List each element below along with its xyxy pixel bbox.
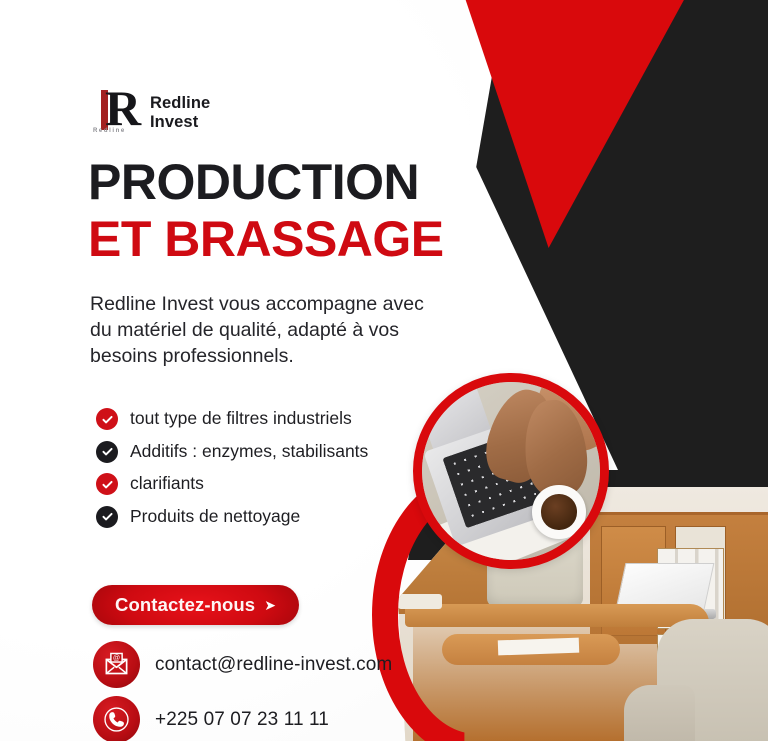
logo-subtext: Redline <box>93 128 126 134</box>
logo-letter: R <box>105 83 141 133</box>
check-icon <box>96 473 118 495</box>
list-item-label: tout type de filtres industriels <box>130 409 352 428</box>
brand-logo: R Redline Redline Invest <box>89 88 210 138</box>
flyer-canvas: R Redline Redline Invest PRODUCTION ET B… <box>0 0 768 741</box>
list-item-label: Produits de nettoyage <box>130 507 300 526</box>
list-item: tout type de filtres industriels <box>96 408 436 430</box>
arrow-right-icon: ➤ <box>264 598 276 612</box>
list-item: Produits de nettoyage <box>96 506 436 528</box>
description-paragraph: Redline Invest vous accompagne avec du m… <box>90 291 435 369</box>
feature-list: tout type de filtres industriels Additif… <box>96 408 436 538</box>
list-item-label: Additifs : enzymes, stabilisants <box>130 442 368 461</box>
content-column: R Redline Redline Invest PRODUCTION ET B… <box>0 0 470 741</box>
logo-mark-icon: R Redline <box>89 88 141 138</box>
svg-text:@: @ <box>113 653 120 662</box>
contact-phone-row[interactable]: +225 07 07 23 11 11 <box>93 696 329 741</box>
contact-us-label: Contactez-nous <box>115 594 255 616</box>
check-icon <box>96 506 118 528</box>
list-item: clarifiants <box>96 473 436 495</box>
list-item-label: clarifiants <box>130 474 204 493</box>
email-address: contact@redline-invest.com <box>155 654 392 676</box>
headline-secondary: ET BRASSAGE <box>88 214 444 264</box>
phone-icon <box>93 696 140 741</box>
check-icon <box>96 441 118 463</box>
brand-name: Redline Invest <box>150 94 210 133</box>
contact-email-row[interactable]: @ contact@redline-invest.com <box>93 641 392 688</box>
brand-name-line2: Invest <box>150 113 210 132</box>
headline-primary: PRODUCTION <box>88 157 419 207</box>
contact-us-button[interactable]: Contactez-nous ➤ <box>92 585 299 625</box>
coffee-cup <box>532 485 585 538</box>
brand-name-line1: Redline <box>150 94 210 113</box>
office-armchair <box>657 619 768 741</box>
list-item: Additifs : enzymes, stabilisants <box>96 441 436 463</box>
check-icon <box>96 408 118 430</box>
envelope-icon: @ <box>93 641 140 688</box>
phone-number: +225 07 07 23 11 11 <box>155 709 329 731</box>
